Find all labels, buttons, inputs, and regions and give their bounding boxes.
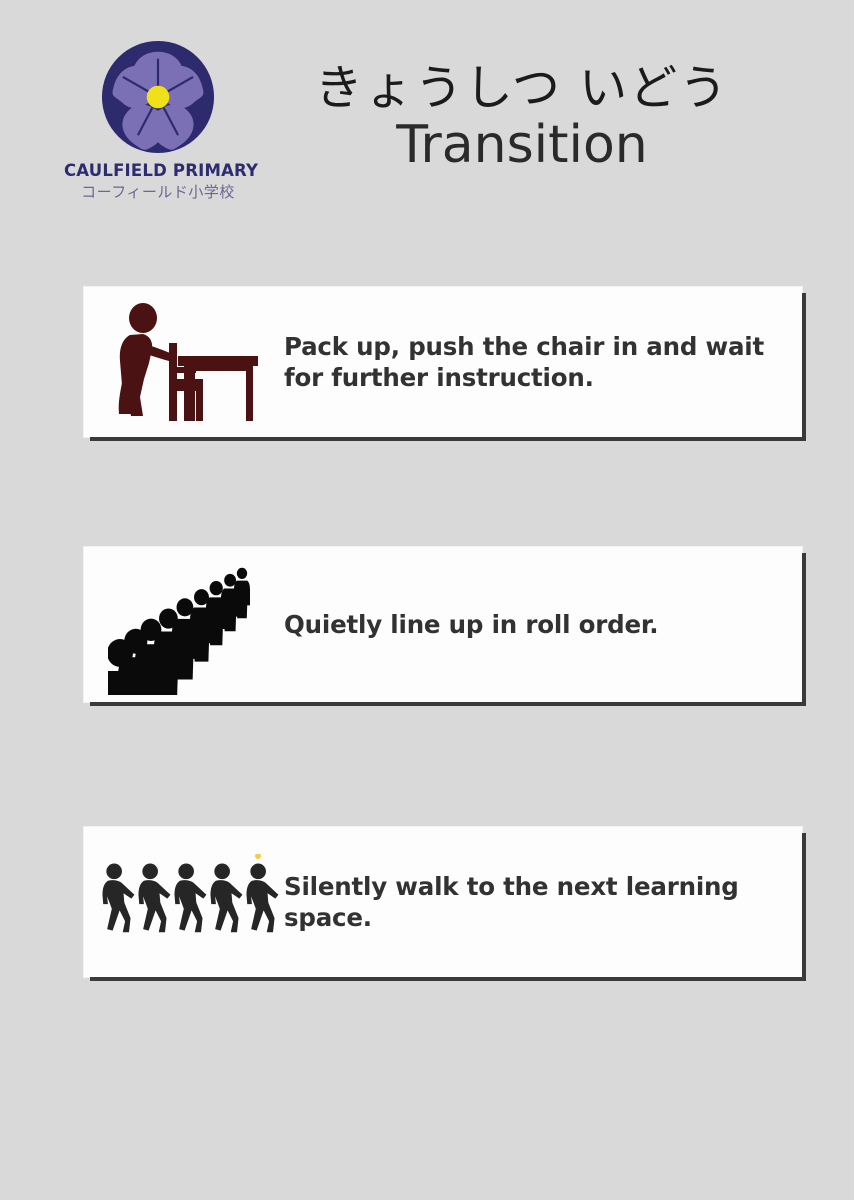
instruction-card-text: Pack up, push the chair in and wait for …	[284, 331, 802, 394]
page-title-english: Transition	[262, 118, 782, 173]
school-name-japanese: コーフィールド小学校	[64, 184, 252, 201]
instruction-card-pack-up[interactable]: Pack up, push the chair in and wait for …	[84, 287, 802, 437]
page-title: きょうしつ いどう Transition	[262, 62, 782, 172]
instruction-card-text: Silently walk to the next learning space…	[284, 871, 802, 934]
yellow-accent-dot	[255, 854, 261, 859]
instruction-card-walk[interactable]: Silently walk to the next learning space…	[84, 827, 802, 977]
page-title-japanese: きょうしつ いどう	[262, 62, 782, 116]
school-logo-block: CAULFIELD PRIMARY コーフィールド小学校	[64, 38, 252, 201]
queue-of-people-icon	[84, 547, 284, 702]
instruction-card-line-up[interactable]: Quietly line up in roll order.	[84, 547, 802, 702]
caulfield-primary-flower-logo	[99, 38, 217, 156]
walking-people-icon-svg	[95, 854, 281, 950]
page-header: CAULFIELD PRIMARY コーフィールド小学校 きょうしつ いどう T…	[0, 0, 854, 250]
person-pushing-chair-icon-svg	[112, 301, 264, 423]
walking-people-icon	[84, 827, 284, 977]
person-pushing-chair-icon	[84, 287, 284, 437]
school-name: CAULFIELD PRIMARY	[64, 162, 252, 180]
instruction-card-text: Quietly line up in roll order.	[284, 609, 802, 640]
queue-of-people-icon-svg	[108, 555, 268, 695]
